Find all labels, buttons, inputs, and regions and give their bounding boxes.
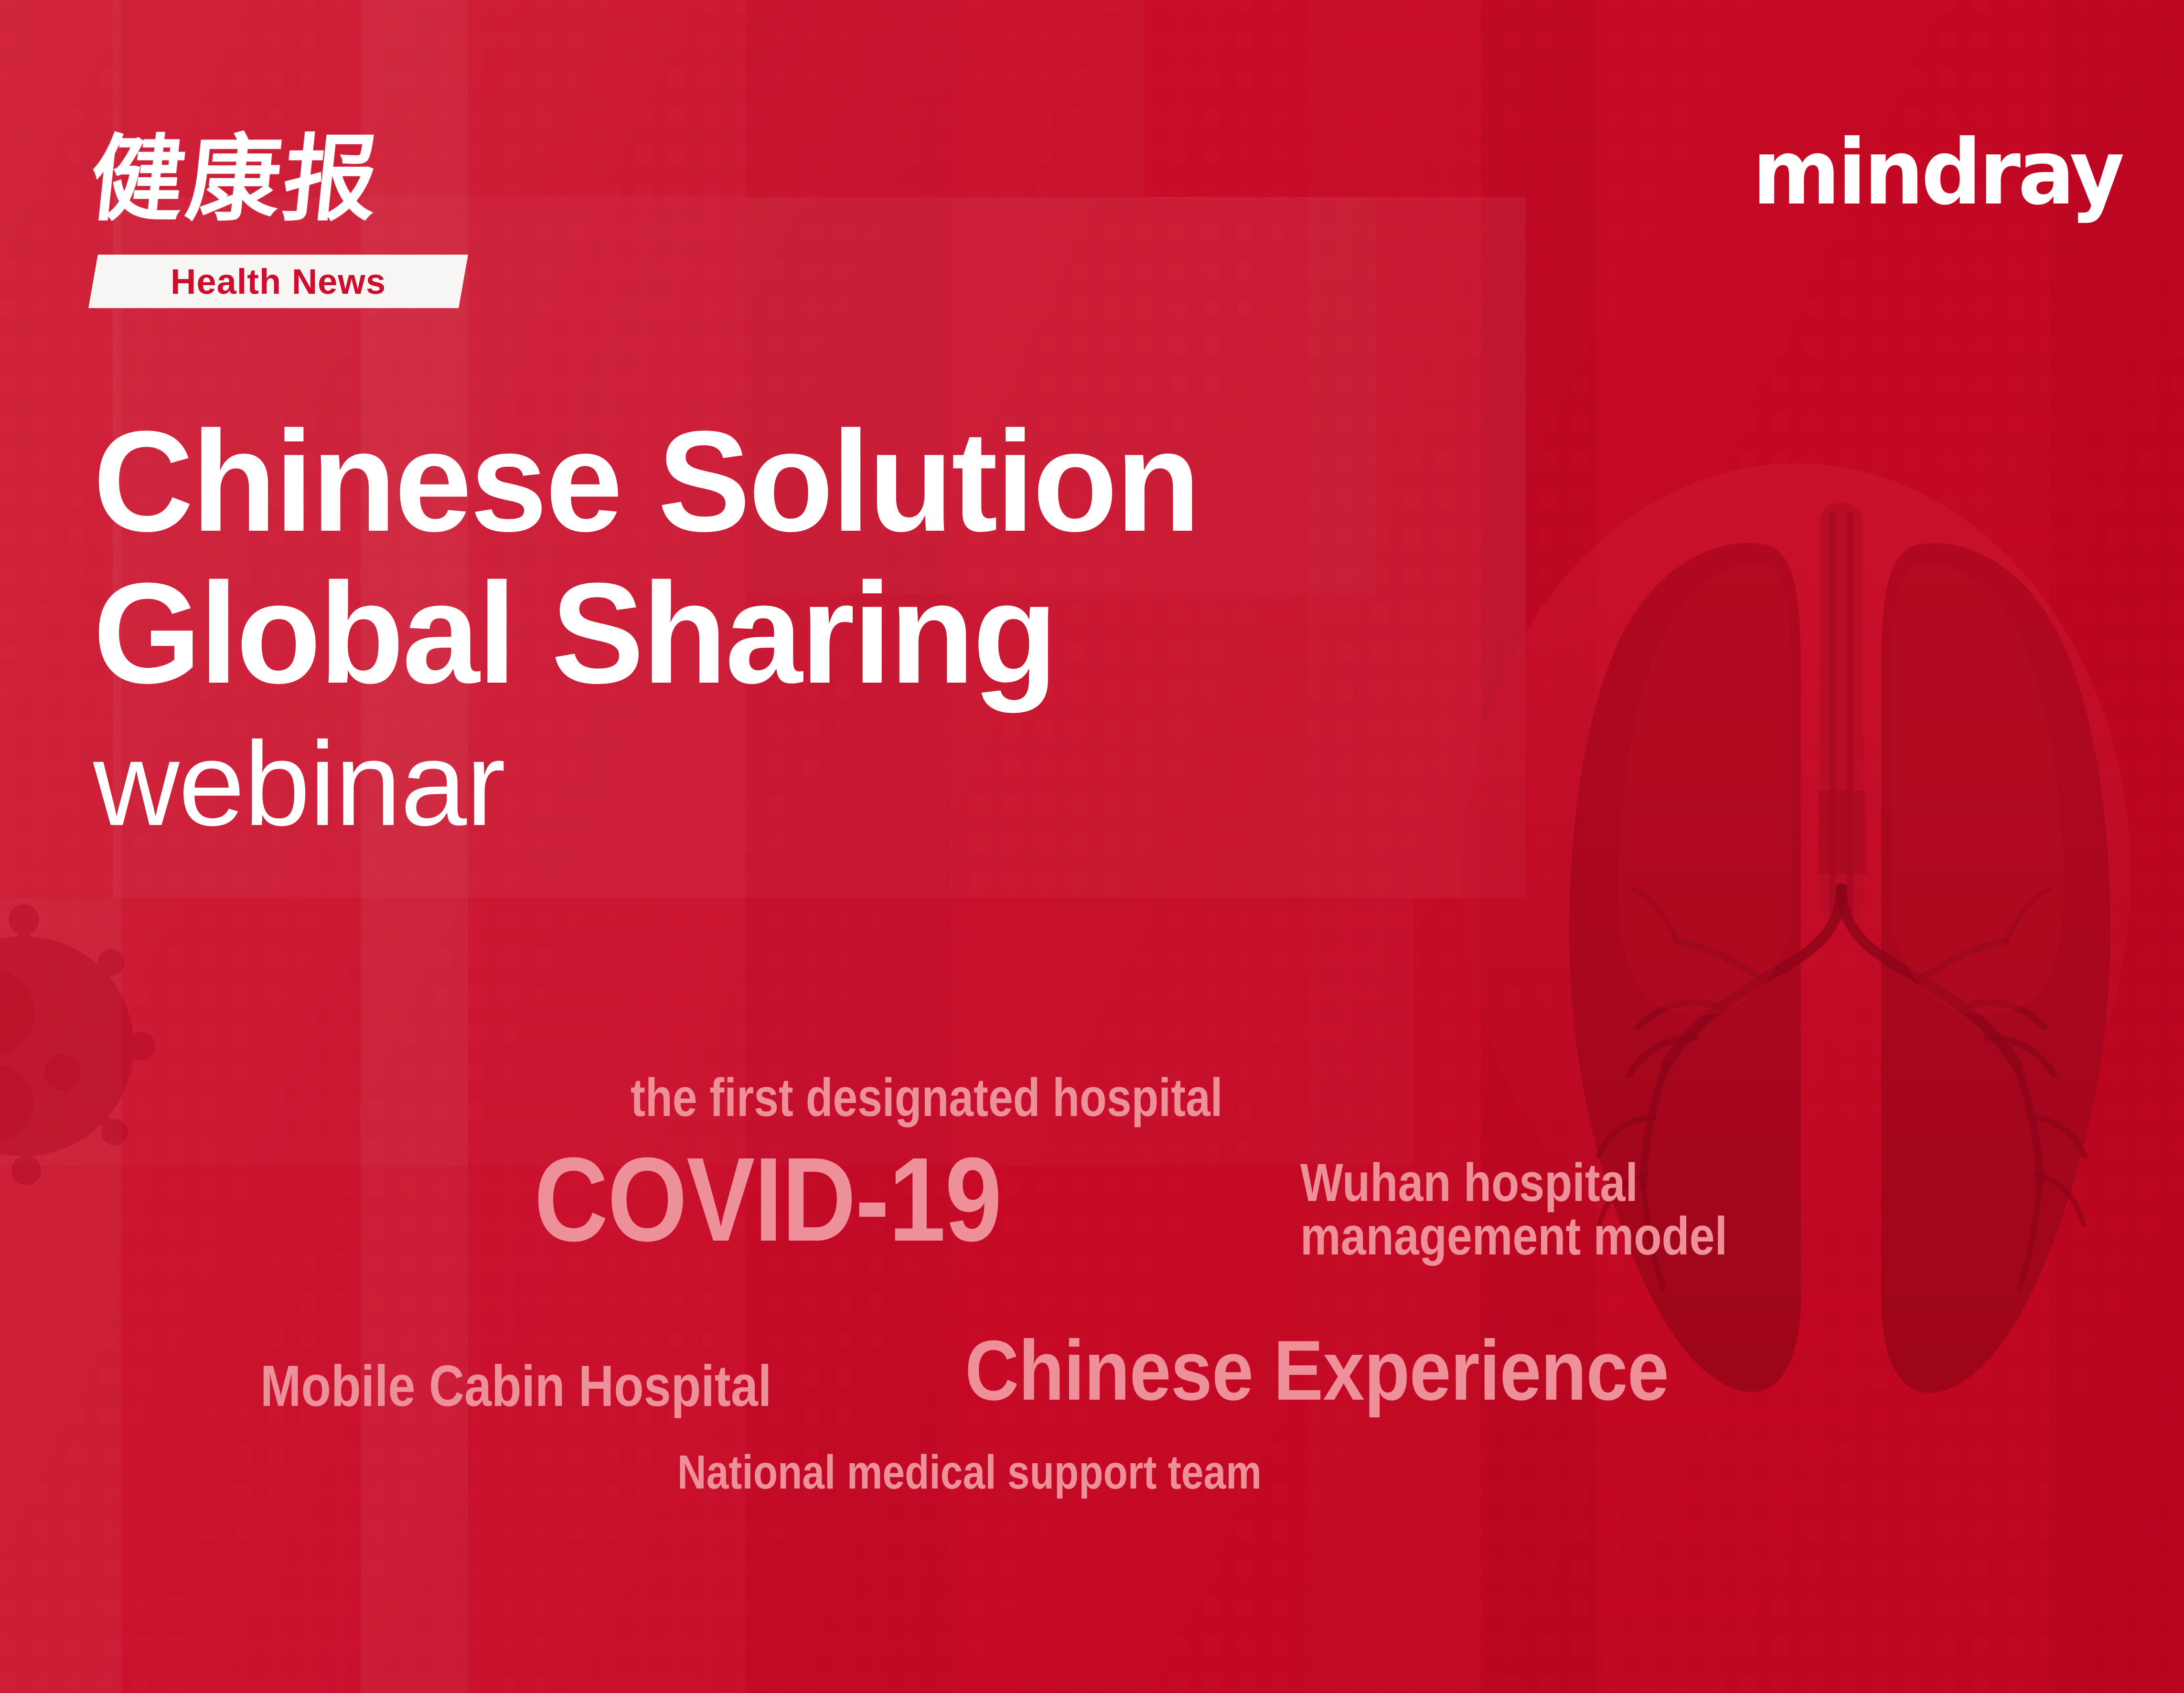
mindray-logo[interactable]: mindray <box>1752 128 2122 218</box>
keyword-management-model: management model <box>1300 1210 1727 1263</box>
keyword-wuhan-hospital: Wuhan hospital <box>1300 1156 1638 1210</box>
webinar-poster: 健康报 Health News mindray Chinese Solution… <box>0 0 2184 1693</box>
keyword-mobile-cabin-hospital: Mobile Cabin Hospital <box>260 1357 771 1415</box>
title-line-2: Global Sharing <box>93 563 1530 703</box>
health-news-banner-label: Health News <box>93 255 463 308</box>
title-line-1: Chinese Solution <box>93 411 1530 551</box>
health-news-logo[interactable]: 健康报 Health News <box>91 107 473 313</box>
keyword-national-medical-support-team: National medical support team <box>677 1448 1262 1496</box>
keyword-chinese-experience: Chinese Experience <box>965 1328 1669 1413</box>
keyword-first-designated-hospital: the first designated hospital <box>631 1071 1223 1125</box>
keyword-cloud: the first designated hospital COVID-19 W… <box>0 1061 2184 1596</box>
health-news-calligraphy: 健康报 <box>83 107 481 251</box>
keyword-covid-19: COVID-19 <box>534 1140 1001 1259</box>
title-line-3-webinar: webinar <box>93 724 1574 844</box>
poster-title: Chinese Solution Global Sharing webinar <box>93 411 1574 844</box>
